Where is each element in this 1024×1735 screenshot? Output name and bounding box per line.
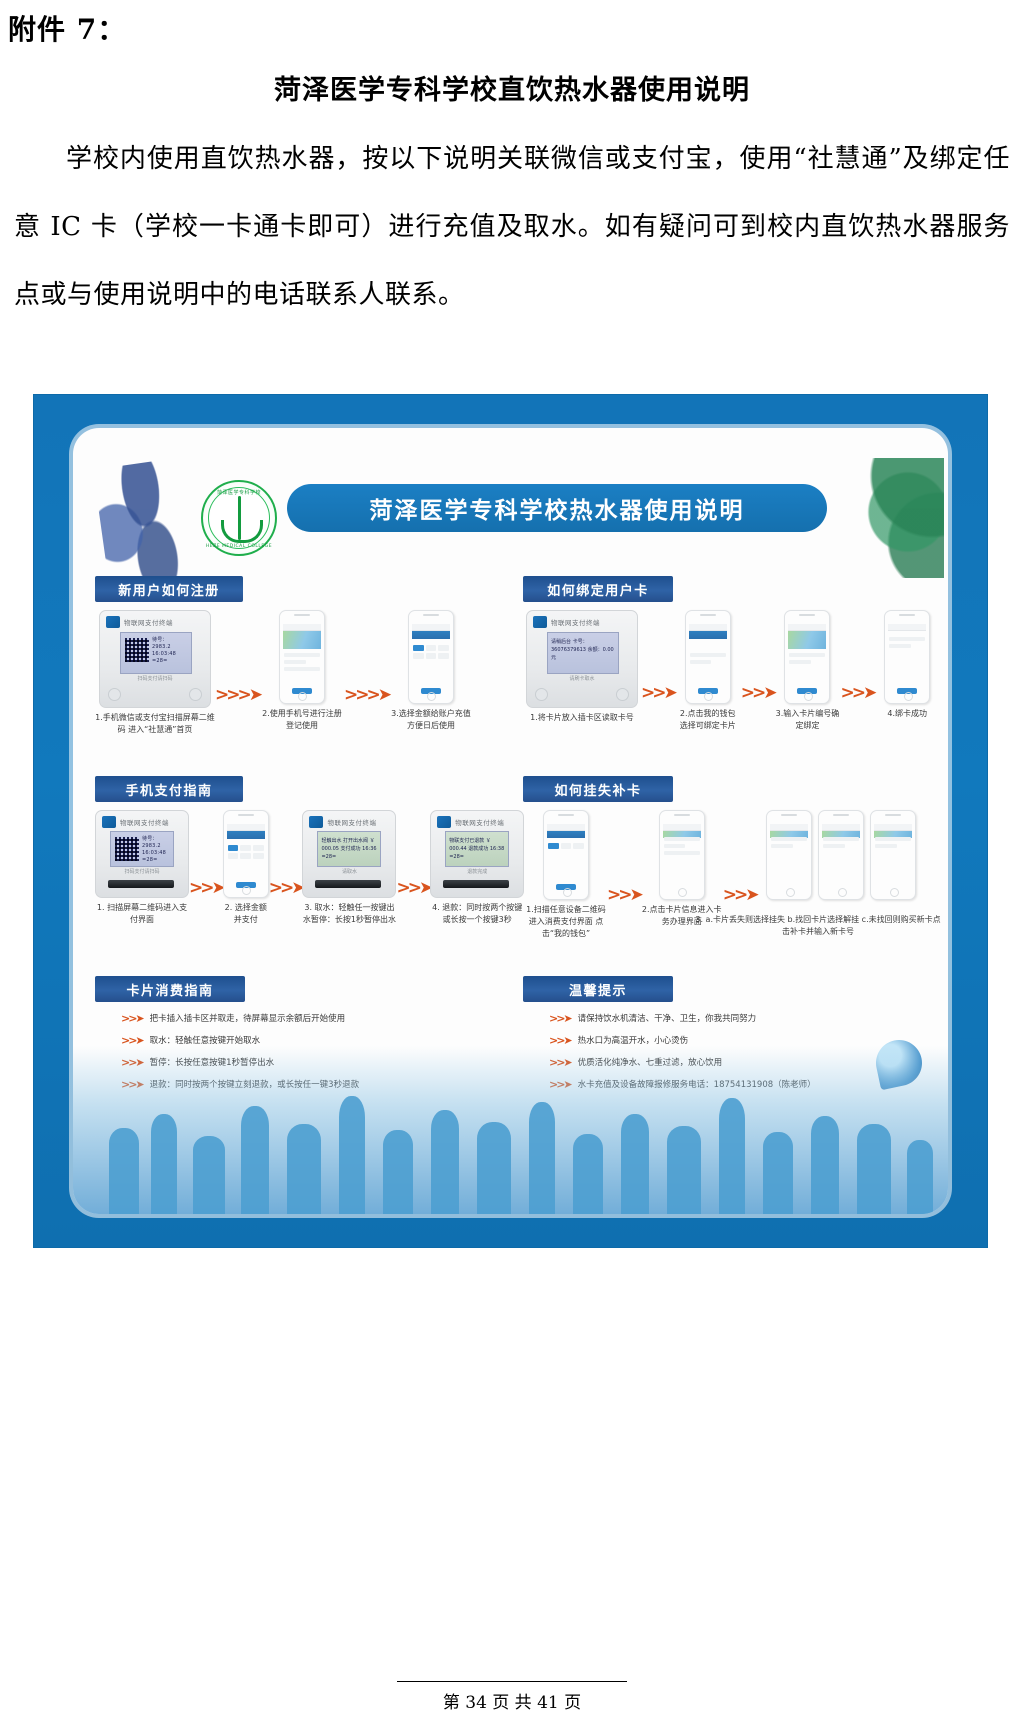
- phone-illustration: [223, 810, 269, 898]
- machine-brand-text: 物联网支付终端: [327, 817, 376, 827]
- qr-code-icon: [115, 837, 139, 861]
- water-machine-illustration: 物联网支付终端 轻触出水 打开出水阀 ￥ 000.05 支付成功 16:36 =…: [302, 810, 396, 898]
- arrow-bullet-icon: >>➤: [549, 1014, 571, 1024]
- decorative-palm-right-icon: [824, 458, 944, 578]
- step-caption: 1. 扫描屏幕二维码进入支付界面: [95, 902, 189, 926]
- section-heading-bind-user-card: 如何绑定用户卡: [523, 576, 673, 602]
- steps-bind-user-card: 物联网支付终端 请稍后台 卡号：36076379613 余额：0.00元 请刷卡…: [523, 610, 941, 732]
- section-heading-card-guide: 卡片消费指南: [95, 976, 245, 1002]
- step-item: 2.点击卡片信息进入卡务办理界面: [641, 810, 723, 928]
- water-machine-illustration: 物联网支付终端 待号： 2983.2 16:03:48 =28= 扫码支付请扫码: [99, 610, 211, 708]
- phone-illustration: [408, 610, 454, 704]
- step-item: 3.选择金额给账户充值方便日后使用: [389, 610, 473, 732]
- step-caption: 3. 取水：轻触任一按键出水暂停：长按1秒暂停出水: [302, 902, 396, 926]
- phone-illustration: [766, 810, 812, 900]
- phone-illustration: [818, 810, 864, 900]
- phone-illustration: [784, 610, 830, 704]
- steps-new-user-register: 物联网支付终端 待号： 2983.2 16:03:48 =28= 扫码支付请扫码…: [95, 610, 495, 736]
- step-caption: 4. 退款：同时按两个按键或长按一个按键3秒: [430, 902, 524, 926]
- arrow-right-icon: >>➤: [607, 887, 641, 904]
- arrow-right-icon: >>➤: [396, 880, 430, 897]
- step-caption: 1.扫描任意设备二维码进入消费支付界面 点击“我的钱包”: [525, 904, 607, 940]
- arrow-right-icon: >>➤: [189, 880, 223, 897]
- phone-illustration: [659, 810, 705, 900]
- machine-sub-label: 请刷卡取水: [527, 675, 637, 682]
- machine-brand-text: 物联网支付终端: [455, 817, 504, 827]
- step-item: 2. 选择金额并支付: [223, 810, 269, 926]
- step-item: 物联网支付终端 请稍后台 卡号：36076379613 余额：0.00元 请刷卡…: [523, 610, 641, 724]
- step-caption: 1.手机微信或支付宝扫描屏幕二维码 进入“社慧通”首页: [95, 712, 215, 736]
- step-item: 4.绑卡成功: [874, 610, 940, 720]
- poster-title: 菏泽医学专科学校热水器使用说明: [370, 491, 745, 525]
- list-item: >>➤ 请保持饮水机清洁、干净、卫生，你我共同努力: [549, 1014, 948, 1025]
- document-title: 菏泽医学专科学校直饮热水器使用说明: [0, 68, 1024, 107]
- phone-illustration: [884, 610, 930, 704]
- arrow-right-icon: >>➤: [269, 880, 303, 897]
- attachment-label: 附件 7：: [8, 8, 126, 48]
- section-heading-tips: 温馨提示: [523, 976, 673, 1002]
- steps-mobile-payment-guide: 物联网支付终端 待号： 2983.2 16:03:48 =28= 扫码支付请扫码…: [95, 810, 495, 926]
- water-machine-illustration: 物联网支付终端 请稍后台 卡号：36076379613 余额：0.00元 请刷卡…: [526, 610, 638, 708]
- step-caption: 2.使用手机号进行注册登记使用: [260, 708, 344, 732]
- step-caption: 2.点击我的钱包 选择可绑定卡片: [675, 708, 741, 732]
- arrow-right-icon: >>➤: [840, 685, 874, 702]
- phone-illustration: [543, 810, 589, 900]
- poster-image: 菏泽医学专科学校 HEZE MEDICAL COLLEGE 菏泽医学专科学校热水…: [33, 394, 988, 1248]
- arrow-right-icon: >>➤: [741, 685, 775, 702]
- silhouette-background: [73, 1046, 948, 1214]
- machine-screen-text: 物联支付已退款 ￥ 000.44 退款成功 16:38 =28=: [449, 837, 505, 861]
- qr-code-icon: [125, 638, 149, 662]
- school-seal-icon: 菏泽医学专科学校 HEZE MEDICAL COLLEGE: [201, 480, 277, 556]
- step-item: 物联网支付终端 待号： 2983.2 16:03:48 =28= 扫码支付请扫码…: [95, 810, 189, 926]
- page-footer: 第 34 页 共 41 页: [0, 1688, 1024, 1713]
- arrow-bullet-icon: >>➤: [549, 1036, 571, 1046]
- step-item: 物联网支付终端 物联支付已退款 ￥ 000.44 退款成功 16:38 =28=…: [430, 810, 524, 926]
- step-caption: 3.选择金额给账户充值方便日后使用: [389, 708, 473, 732]
- people-silhouettes: [73, 1064, 948, 1214]
- page-number: 第 34 页 共 41 页: [443, 1693, 581, 1713]
- arrow-right-icon: >>➤: [641, 685, 675, 702]
- arrow-bullet-icon: >>➤: [121, 1036, 143, 1046]
- step-item: 物联网支付终端 轻触出水 打开出水阀 ￥ 000.05 支付成功 16:36 =…: [302, 810, 396, 926]
- machine-screen-text: 待号： 2983.2 16:03:48 =28=: [152, 637, 188, 665]
- step-item: 2.点击我的钱包 选择可绑定卡片: [675, 610, 741, 732]
- machine-screen-text: 请稍后台 卡号：36076379613 余额：0.00元: [551, 638, 615, 662]
- machine-brand-text: 物联网支付终端: [551, 617, 600, 627]
- phone-illustration: [685, 610, 731, 704]
- machine-sub-label: 请取水: [303, 868, 395, 875]
- step-caption: 3.输入卡片编号确定绑定: [774, 708, 840, 732]
- seal-top-text: 菏泽医学专科学校: [203, 489, 275, 496]
- machine-screen-text: 待号： 2983.2 16:03:48 =28=: [142, 836, 170, 864]
- step-item: [756, 810, 926, 900]
- list-item: >>➤ 把卡插入插卡区并取走，待屏幕显示余额后开始使用: [121, 1014, 521, 1025]
- document-page: 附件 7： 菏泽医学专科学校直饮热水器使用说明 学校内使用直饮热水器，按以下说明…: [0, 0, 1024, 1735]
- document-body-paragraph: 学校内使用直饮热水器，按以下说明关联微信或支付宝，使用“社慧通”及绑定任意 IC…: [14, 125, 1010, 329]
- machine-sub-label: 扫码支付请扫码: [100, 675, 210, 682]
- step-item: 3.输入卡片编号确定绑定: [774, 610, 840, 732]
- machine-sub-label: 扫码支付请扫码: [96, 868, 188, 875]
- phone-illustration: [870, 810, 916, 900]
- arrow-bullet-icon: >>➤: [121, 1014, 143, 1024]
- decorative-leaf-left-icon: [93, 459, 183, 588]
- arrow-right-icon: >>>➤: [215, 687, 260, 704]
- machine-brand-text: 物联网支付终端: [124, 617, 173, 627]
- step-caption: 1.将卡片放入插卡区读取卡号: [523, 712, 641, 724]
- section-heading-lost-card-reissue: 如何挂失补卡: [523, 776, 673, 802]
- step-item: 1.扫描任意设备二维码进入消费支付界面 点击“我的钱包”: [525, 810, 607, 940]
- water-machine-illustration: 物联网支付终端 待号： 2983.2 16:03:48 =28= 扫码支付请扫码: [95, 810, 189, 898]
- section-heading-mobile-payment-guide: 手机支付指南: [95, 776, 243, 802]
- step-caption: 3. a.卡片丢失则选择挂失 b.找回卡片选择解挂 c.未找回则购买新卡点击补卡…: [693, 914, 943, 938]
- water-machine-illustration: 物联网支付终端 物联支付已退款 ￥ 000.44 退款成功 16:38 =28=…: [430, 810, 524, 898]
- arrow-right-icon: >>>➤: [344, 687, 389, 704]
- section-heading-new-user-register: 新用户如何注册: [95, 576, 243, 602]
- seal-bottom-text: HEZE MEDICAL COLLEGE: [203, 544, 275, 549]
- step-item: 物联网支付终端 待号： 2983.2 16:03:48 =28= 扫码支付请扫码…: [95, 610, 215, 736]
- step-caption: 2. 选择金额并支付: [223, 902, 269, 926]
- poster-canvas: 菏泽医学专科学校 HEZE MEDICAL COLLEGE 菏泽医学专科学校热水…: [73, 428, 948, 1214]
- step-caption: 4.绑卡成功: [874, 708, 940, 720]
- arrow-right-icon: >>➤: [723, 887, 757, 904]
- machine-sub-label: 退款完成: [431, 868, 523, 875]
- poster-title-bar: 菏泽医学专科学校热水器使用说明: [287, 484, 827, 532]
- step-item: 2.使用手机号进行注册登记使用: [260, 610, 344, 732]
- machine-screen-text: 轻触出水 打开出水阀 ￥ 000.05 支付成功 16:36 =28=: [321, 837, 377, 861]
- phone-illustration: [279, 610, 325, 704]
- machine-brand-text: 物联网支付终端: [120, 817, 169, 827]
